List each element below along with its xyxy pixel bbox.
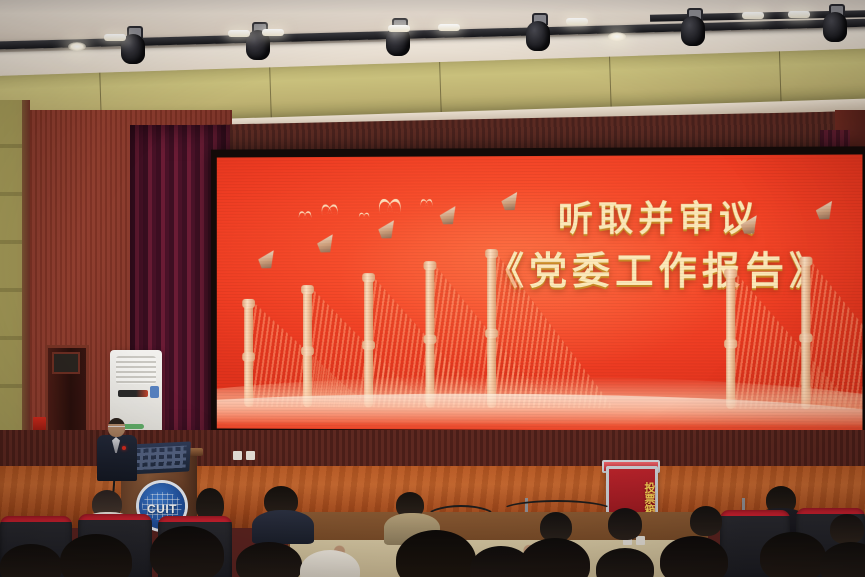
ceiling-light: [788, 11, 810, 18]
stage-light-fixture: [245, 22, 271, 62]
auditorium-photo: 听取并审议 《党委工作报告》: [0, 0, 865, 577]
audience-head: [608, 508, 642, 540]
stage-light-fixture: [120, 26, 146, 66]
audience-shoulder: [252, 510, 314, 544]
stage-light-fixture: [385, 18, 411, 58]
ceiling-light: [262, 29, 284, 36]
left-wall-panels: [0, 100, 22, 470]
ac-badge: [150, 386, 159, 398]
ac-display-panel: [118, 390, 148, 397]
audience-head: [760, 532, 826, 577]
stage-light-fixture: [680, 8, 706, 48]
dove-icon: [298, 211, 311, 217]
audience-head: [660, 536, 728, 577]
audience-head: [830, 514, 864, 544]
stage-light-fixture: [525, 13, 551, 53]
ceiling-light: [68, 42, 86, 51]
eyeglasses-icon: [108, 426, 125, 431]
ceiling-light: [438, 24, 460, 31]
dove-icon: [321, 204, 338, 212]
stage-outlet: [233, 451, 255, 460]
ceiling-light: [566, 18, 588, 25]
dove-icon: [378, 199, 402, 210]
door-window: [52, 352, 80, 374]
ceiling-light: [742, 12, 764, 19]
ceiling-light: [388, 25, 410, 32]
ceiling-light: [608, 32, 626, 41]
stage-light-fixture: [822, 4, 848, 44]
audience-head: [150, 526, 224, 577]
ac-grill: [116, 356, 156, 384]
audience-head: [690, 506, 722, 536]
dove-icon: [420, 199, 433, 205]
ceiling-light: [104, 34, 126, 41]
dove-icon: [359, 213, 370, 218]
lapel-pin-icon: [122, 446, 126, 450]
led-screen: 听取并审议 《党委工作报告》: [217, 154, 863, 431]
ceiling-light: [228, 30, 250, 37]
speaker-person: [95, 418, 137, 480]
led-screen-frame: 听取并审议 《党委工作报告》: [211, 146, 865, 437]
